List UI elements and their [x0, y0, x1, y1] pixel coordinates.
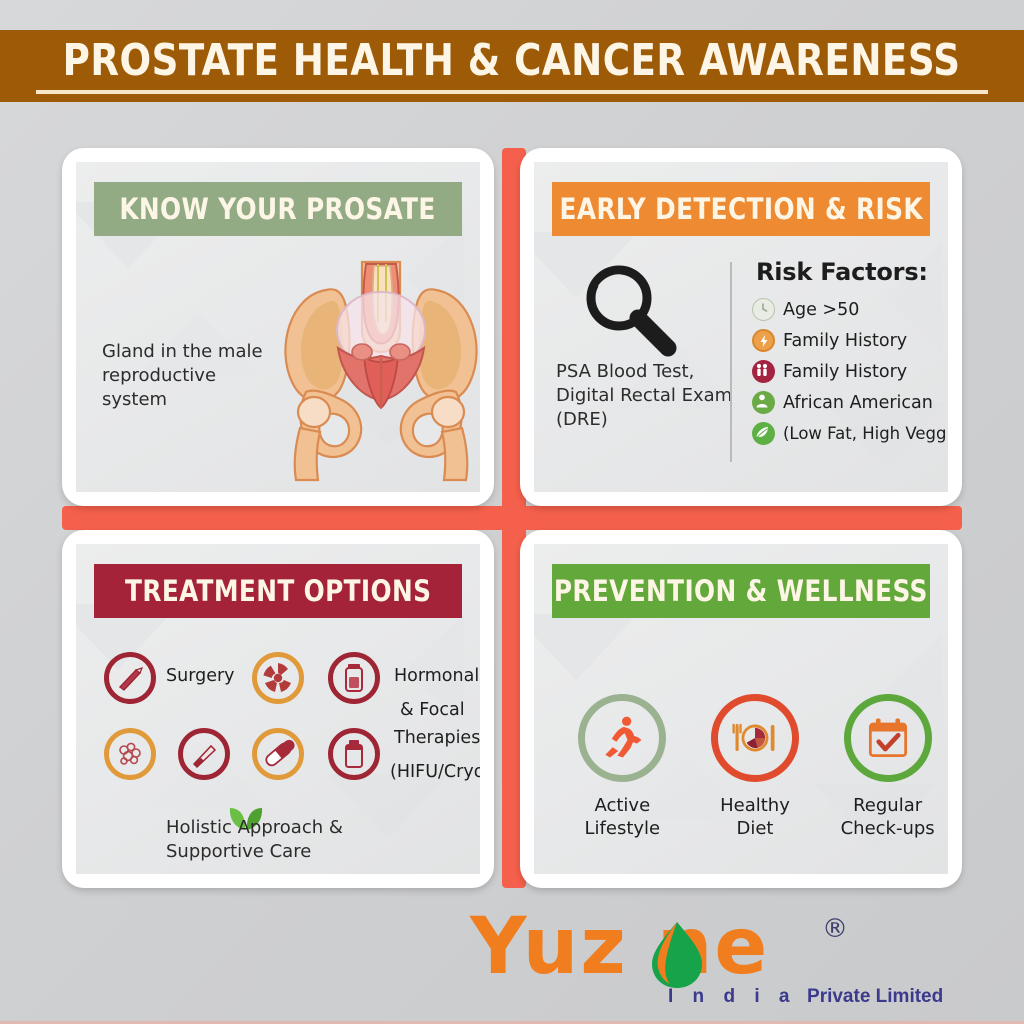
prevention-label-line2: Check-ups: [841, 818, 935, 839]
scalpel-blade-icon: [178, 728, 230, 780]
card-treatment-header: TREATMENT OPTIONS: [94, 564, 462, 618]
logo-subtitle-company: Private Limited: [807, 986, 943, 1007]
pill-icon: [252, 728, 304, 780]
treatment-label-hormonal-2: & Focal: [400, 700, 465, 720]
prevention-label-line1: Active: [594, 795, 650, 816]
card-detection-header: EARLY DETECTION & RISK: [552, 182, 930, 236]
plate-cutlery-icon: [711, 694, 799, 782]
bolt-icon: [752, 329, 775, 352]
runner-icon: [578, 694, 666, 782]
calendar-check-icon: [844, 694, 932, 782]
treatment-label-hormonal-1: Hormonal: [394, 666, 479, 686]
card-prevention-title: PREVENTION & WELLNESS: [554, 577, 928, 606]
page-title: PROSTATE HEALTH & CANCER AWARENESS: [63, 39, 961, 83]
treatment-label-surgery: Surgery: [166, 666, 235, 686]
risk-factor-row: Age >50: [752, 294, 948, 325]
person-icon: [752, 391, 775, 414]
card-early-detection[interactable]: EARLY DETECTION & RISK PSA Blood Test, D…: [520, 148, 962, 506]
pelvis-anatomy-illustration: [266, 252, 480, 482]
prevention-label: Regular Check-ups: [828, 794, 948, 840]
card-detection-tests: PSA Blood Test, Digital Rectal Exam (DRE…: [556, 360, 746, 432]
risk-factor-row: African American: [752, 387, 948, 418]
treatment-label-hormonal-4: (HIFU/Cryo): [390, 762, 480, 782]
card-know-title: KNOW YOUR PROSATE: [120, 195, 436, 224]
prevention-label-line2: Diet: [736, 818, 773, 839]
card-detection-title: EARLY DETECTION & RISK: [559, 195, 922, 224]
risk-factor-label: (Low Fat, High Veggies): [783, 424, 948, 443]
risk-factor-label: Family History: [783, 331, 907, 351]
prevention-item: Healthy Diet: [695, 694, 815, 840]
prevention-label: Active Lifestyle: [562, 794, 682, 840]
logo-subtitle: I n d i a Private Limited: [668, 986, 943, 1008]
logo-subtitle-india: I n d i a: [668, 986, 796, 1007]
treatment-label-hormonal-3: Therapies: [394, 728, 480, 748]
risk-factor-row: Family History: [752, 325, 948, 356]
logo-wordmark: Yuz ne: [470, 908, 769, 986]
company-logo[interactable]: Yuz ne ® I n d i a Private Limited: [470, 908, 890, 1014]
radiation-icon: [252, 652, 304, 704]
risk-factor-label: African American: [783, 393, 933, 413]
divider-horizontal: [62, 506, 962, 530]
risk-factor-row: (Low Fat, High Veggies): [752, 418, 948, 449]
prevention-items: Active Lifestyle: [556, 694, 948, 840]
vial-icon: [328, 652, 380, 704]
risk-factors-list: Age >50 Family History: [752, 294, 948, 449]
clock-icon: [752, 298, 775, 321]
infographic-canvas: PROSTATE HEALTH & CANCER AWARENESS KNOW …: [0, 0, 1024, 1024]
card-prevention-header: PREVENTION & WELLNESS: [552, 564, 930, 618]
vertical-divider: [730, 262, 732, 462]
magnifier-icon: [564, 258, 704, 358]
people-icon: [752, 360, 775, 383]
risk-factor-label: Family History: [783, 362, 907, 382]
cells-icon: [104, 728, 156, 780]
title-banner: PROSTATE HEALTH & CANCER AWARENESS: [0, 30, 1024, 102]
risk-factors-title: Risk Factors:: [756, 258, 928, 286]
leaf-icon: [752, 422, 775, 445]
prevention-item: Regular Check-ups: [828, 694, 948, 840]
card-prevention-wellness[interactable]: PREVENTION & WELLNESS Active Life: [520, 530, 962, 888]
prevention-label-line1: Healthy: [720, 795, 790, 816]
treatment-icon-grid: Surgery: [104, 652, 480, 802]
prevention-item: Active Lifestyle: [562, 694, 682, 840]
vial-bottle-icon: [328, 728, 380, 780]
registered-trademark-icon: ®: [822, 914, 848, 944]
title-underline: [36, 90, 988, 94]
risk-factor-label: Age >50: [783, 300, 859, 320]
card-know-body: Gland in the male reproductive system: [102, 340, 272, 412]
card-treatment-title: TREATMENT OPTIONS: [125, 577, 431, 606]
prevention-label-line1: Regular: [853, 795, 922, 816]
risk-factor-row: Family History: [752, 356, 948, 387]
holistic-label: Holistic Approach & Supportive Care: [166, 816, 426, 864]
prevention-label-line2: Lifestyle: [585, 818, 661, 839]
scalpel-icon: [104, 652, 156, 704]
card-know-your-prostate[interactable]: KNOW YOUR PROSATE: [62, 148, 494, 506]
prevention-label: Healthy Diet: [695, 794, 815, 840]
card-treatment-options[interactable]: TREATMENT OPTIONS Surgery: [62, 530, 494, 888]
leaf-drop-icon: [646, 918, 708, 992]
card-know-header: KNOW YOUR PROSATE: [94, 182, 462, 236]
